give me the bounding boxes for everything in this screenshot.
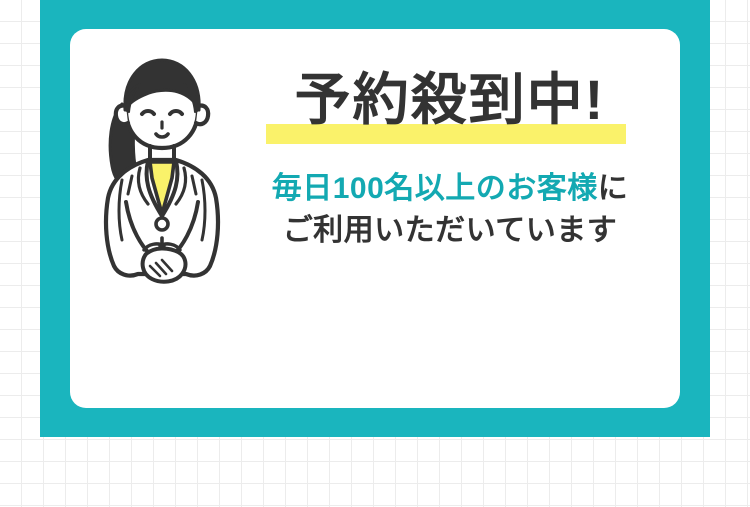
- text-column: 予約殺到中! 毎日100名以上のお客様に ご利用いただいています: [250, 60, 650, 252]
- promo-banner: 予約殺到中! 毎日100名以上のお客様に ご利用いただいています: [0, 0, 750, 507]
- subtitle-line-2: ご利用いただいています: [250, 210, 650, 252]
- subtitle-block: 毎日100名以上のお客様に ご利用いただいています: [250, 168, 650, 252]
- page-title: 予約殺到中!: [250, 60, 650, 140]
- subtitle-line-1-tail: に: [598, 172, 629, 205]
- bowing-woman-illustration: [88, 52, 236, 284]
- headline-wrap: 予約殺到中!: [250, 60, 650, 146]
- subtitle-line-1: 毎日100名以上のお客様に: [250, 168, 650, 210]
- subtitle-accent-text: 毎日100名以上のお客様: [272, 172, 598, 205]
